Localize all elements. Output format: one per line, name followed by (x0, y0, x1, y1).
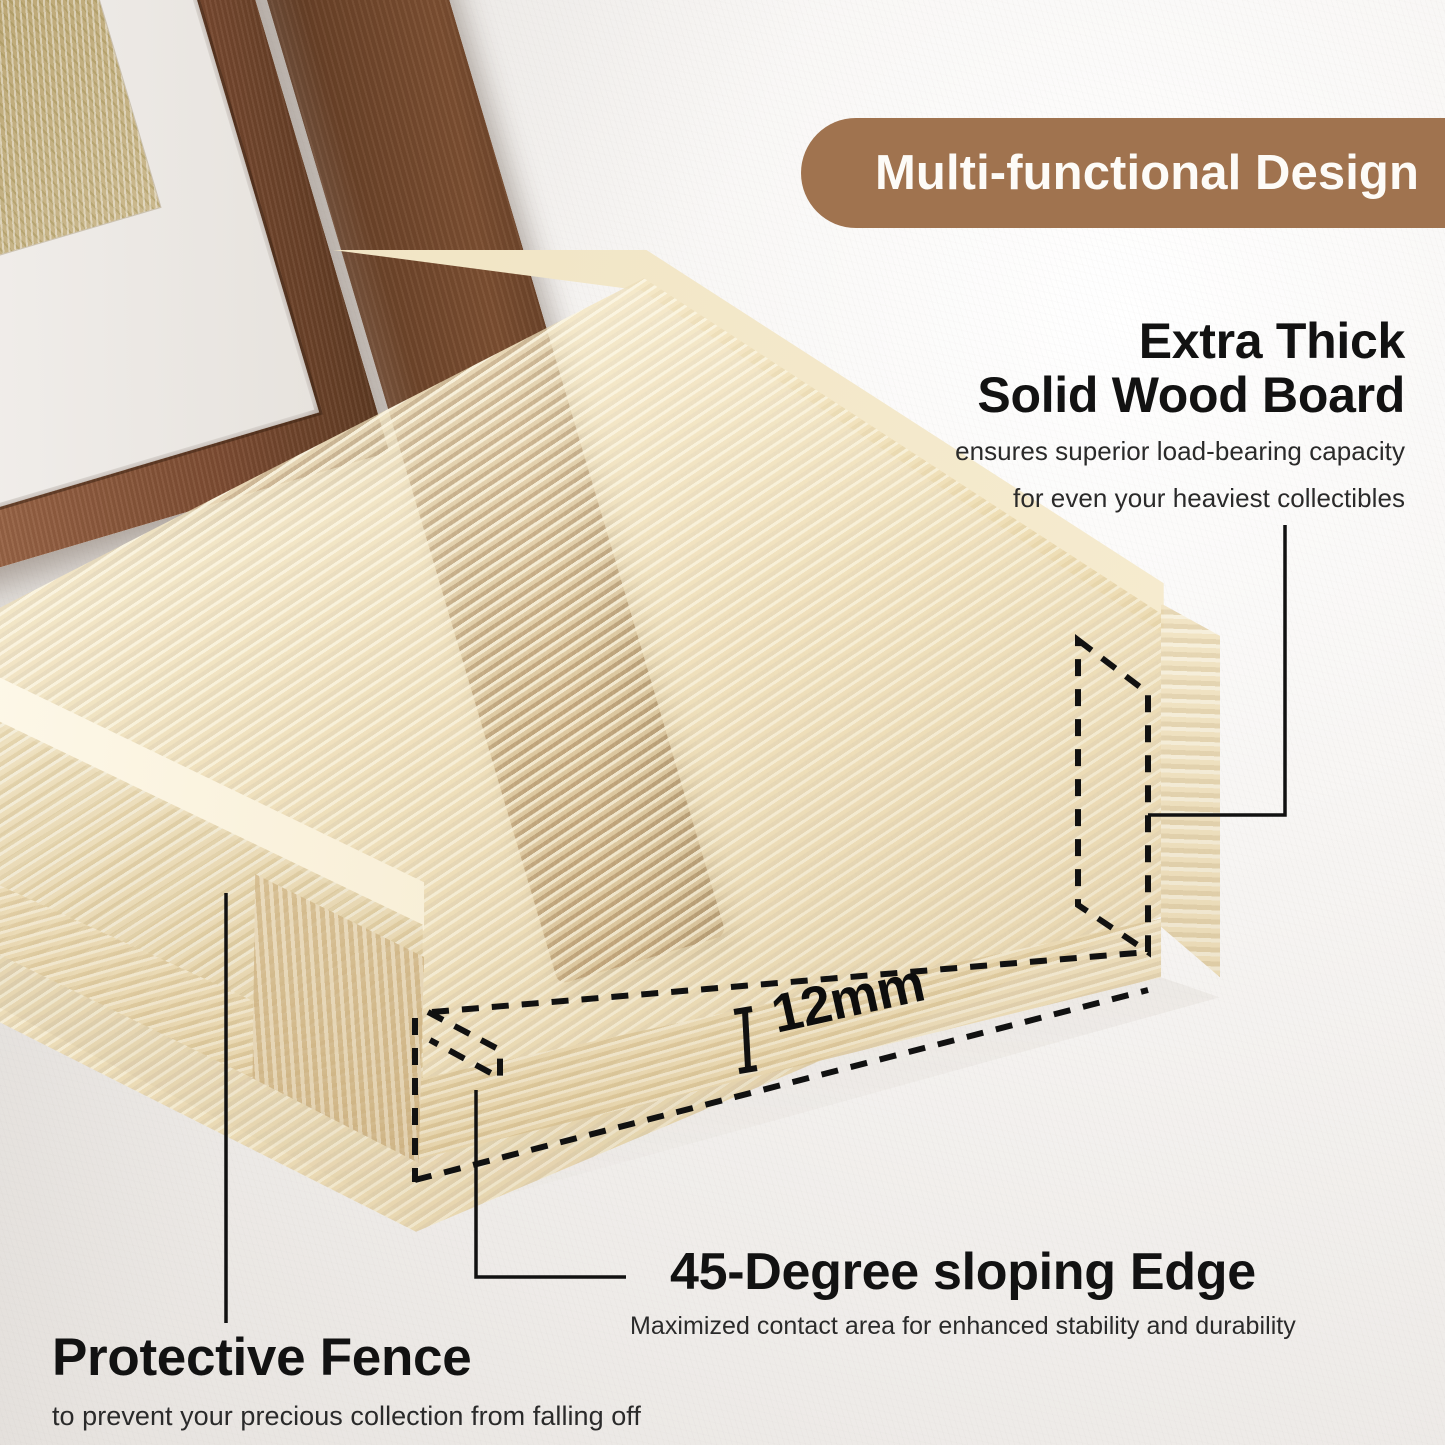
header-banner-label: Multi-functional Design (875, 145, 1419, 201)
callout-protective-fence: Protective Fence to prevent your preciou… (52, 1330, 641, 1434)
callout-heading: Protective Fence (52, 1330, 641, 1387)
callout-sub-line-1: ensures superior load-bearing capacity (955, 435, 1405, 469)
callout-sub: Maximized contact area for enhanced stab… (630, 1310, 1296, 1343)
callout-heading-line-1: Extra Thick (955, 315, 1405, 369)
header-banner: Multi-functional Design (801, 118, 1445, 228)
callout-heading: 45-Degree sloping Edge (630, 1245, 1296, 1301)
callout-heading-line-2: Solid Wood Board (955, 369, 1405, 423)
product-infographic: Multi-functional Design Extra Thick Soli… (0, 0, 1445, 1445)
callout-sub-line-2: for even your heaviest collectibles (955, 482, 1405, 516)
callout-extra-thick-solid-wood-board: Extra Thick Solid Wood Board ensures sup… (955, 315, 1405, 516)
callout-forty-five-degree-sloping-edge: 45-Degree sloping Edge Maximized contact… (630, 1245, 1296, 1342)
callout-sub: to prevent your precious collection from… (52, 1399, 641, 1434)
